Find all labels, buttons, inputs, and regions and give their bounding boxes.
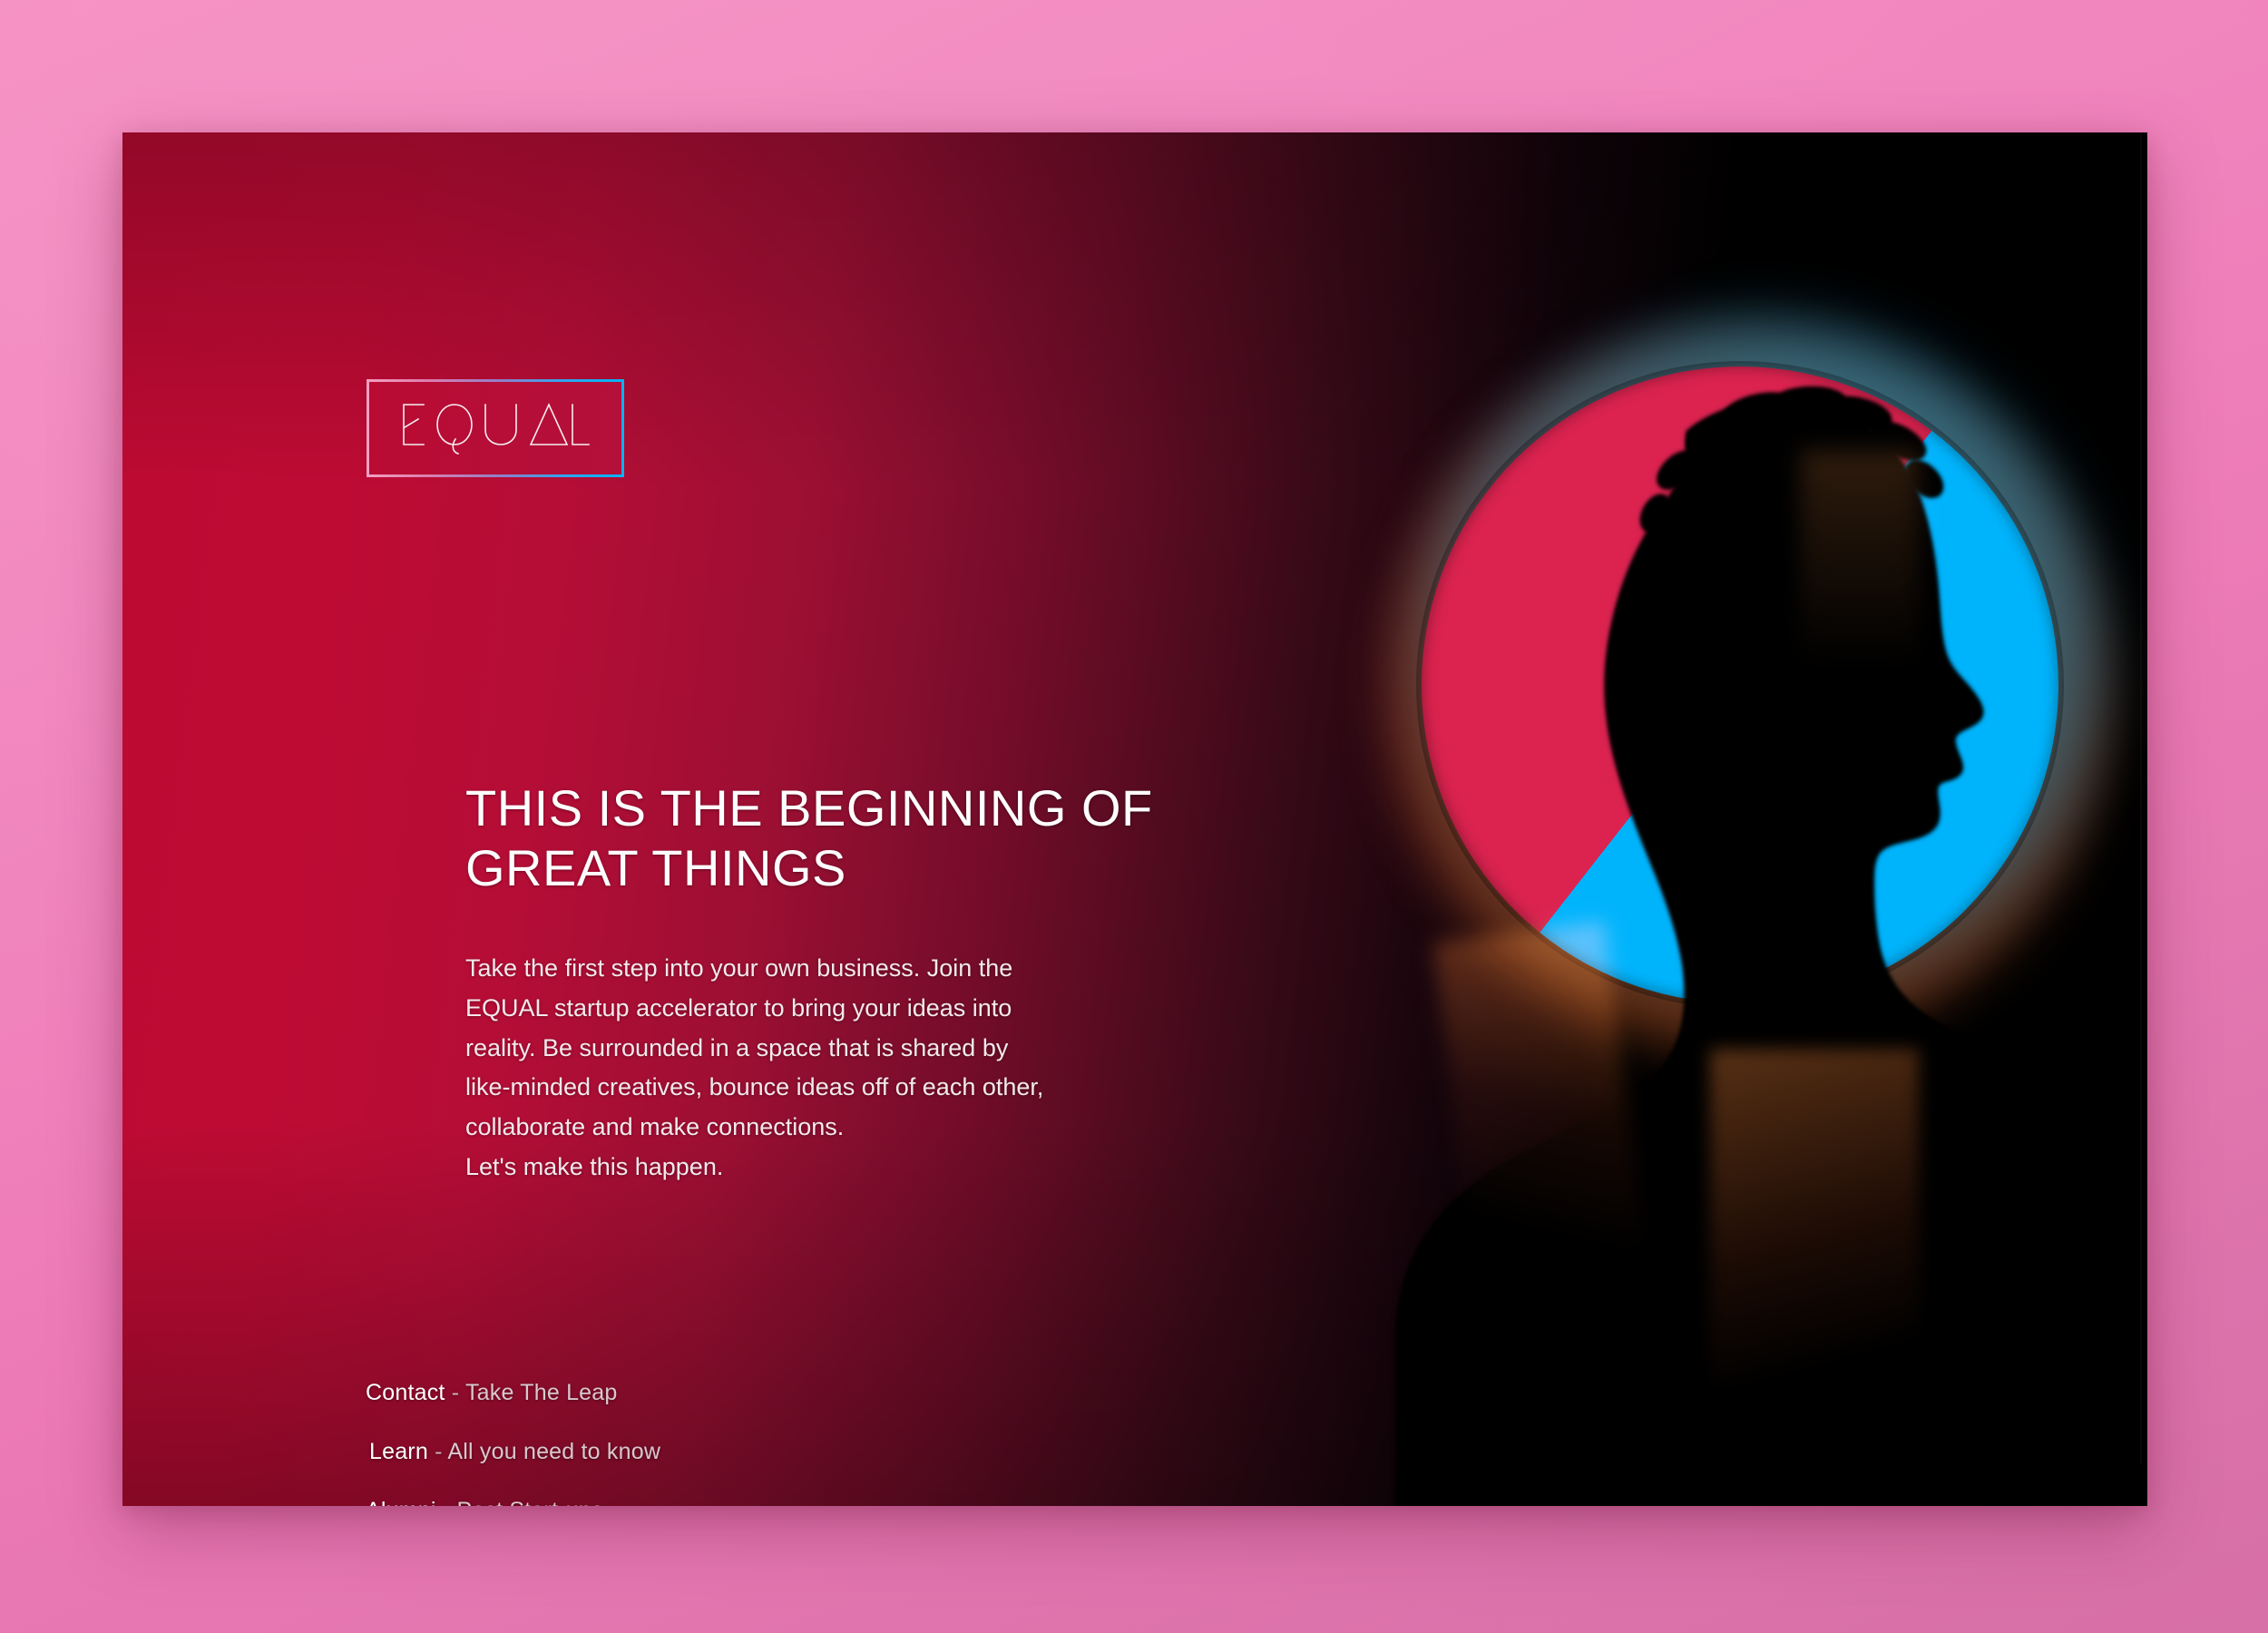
nav-link-description: All you need to know bbox=[447, 1439, 660, 1464]
nav-link-learn[interactable]: Learn - All you need to know bbox=[369, 1439, 660, 1465]
nav-link-label: Alumni bbox=[366, 1498, 436, 1506]
nav-link-alumni[interactable]: Alumni - Past Start-ups bbox=[366, 1498, 660, 1506]
equal-wordmark-icon bbox=[398, 399, 592, 457]
page-title: THIS IS THE BEGINNING OF GREAT THINGS bbox=[465, 778, 1282, 898]
nav-link-dash: - bbox=[436, 1498, 457, 1506]
portrait-artwork bbox=[1202, 132, 2147, 1506]
equal-logo[interactable] bbox=[367, 379, 624, 477]
nav-link-description: Take The Leap bbox=[465, 1380, 618, 1405]
nav-link-contact[interactable]: Contact - Take The Leap bbox=[366, 1380, 660, 1406]
hero-copy: THIS IS THE BEGINNING OF GREAT THINGS Ta… bbox=[465, 778, 1282, 1188]
nav-link-description: Past Start-ups bbox=[456, 1498, 602, 1506]
hero-nav-links: Contact - Take The Leap Learn - All you … bbox=[366, 1380, 660, 1506]
nav-link-dash: - bbox=[428, 1439, 447, 1464]
logo-inner-panel bbox=[369, 382, 621, 474]
nav-link-dash: - bbox=[445, 1380, 465, 1405]
hero-card: THIS IS THE BEGINNING OF GREAT THINGS Ta… bbox=[122, 132, 2147, 1506]
nav-link-label: Contact bbox=[366, 1380, 445, 1405]
nav-link-label: Learn bbox=[369, 1439, 428, 1464]
hero-description: Take the first step into your own busine… bbox=[465, 949, 1282, 1187]
head-silhouette bbox=[1202, 132, 2147, 1506]
